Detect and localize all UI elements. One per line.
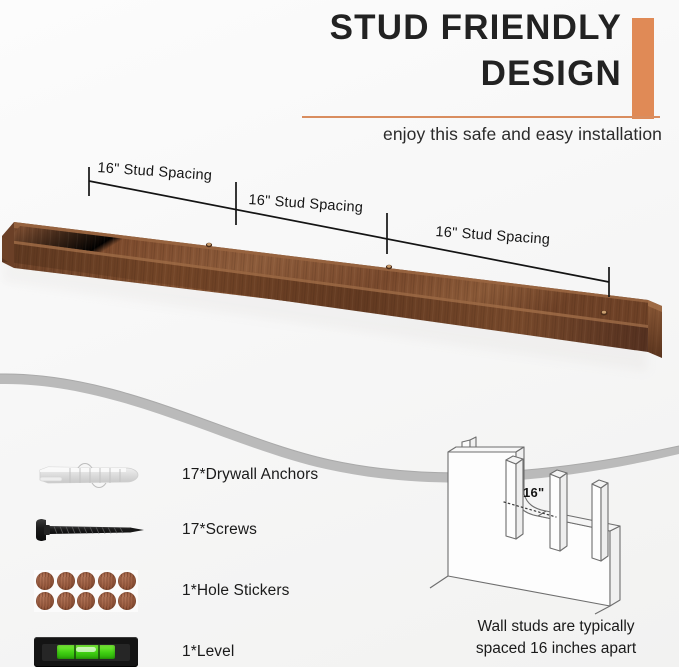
level-body [34,637,138,667]
level-icon [34,629,162,667]
wall-stud-diagram [420,428,679,618]
sticker [36,592,54,610]
sticker [77,592,95,610]
sticker [118,572,136,590]
part-label: 17*Drywall Anchors [182,466,318,484]
list-item: 1*Level [34,629,374,667]
screw-icon [34,507,162,553]
sticker [118,592,136,610]
sticker-grid [34,570,138,613]
sticker [57,572,75,590]
sticker [77,572,95,590]
sticker [36,572,54,590]
list-item: 17*Screws [34,507,374,553]
sticker [98,592,116,610]
level-window [42,644,130,661]
list-item: 17*Drywall Anchors [34,452,374,498]
wall-dimension-label: 16" [523,485,545,500]
caption-line-1: Wall studs are typically [441,616,671,638]
sticker [57,592,75,610]
part-label: 1*Hole Stickers [182,582,289,600]
sticker [98,572,116,590]
drywall-anchor-icon [34,452,162,498]
level-bubble-vial [57,645,115,659]
infographic-stage: STUD FRIENDLY DESIGN enjoy this safe and… [0,0,679,667]
list-item: 1*Hole Stickers [34,562,374,620]
hole-stickers-icon [34,562,162,620]
parts-list: 17*Drywall Anchors [34,452,374,667]
wall-diagram-caption: Wall studs are typically spaced 16 inche… [441,616,671,660]
caption-line-2: spaced 16 inches apart [441,638,671,660]
part-label: 1*Level [182,643,234,661]
part-label: 17*Screws [182,521,257,539]
